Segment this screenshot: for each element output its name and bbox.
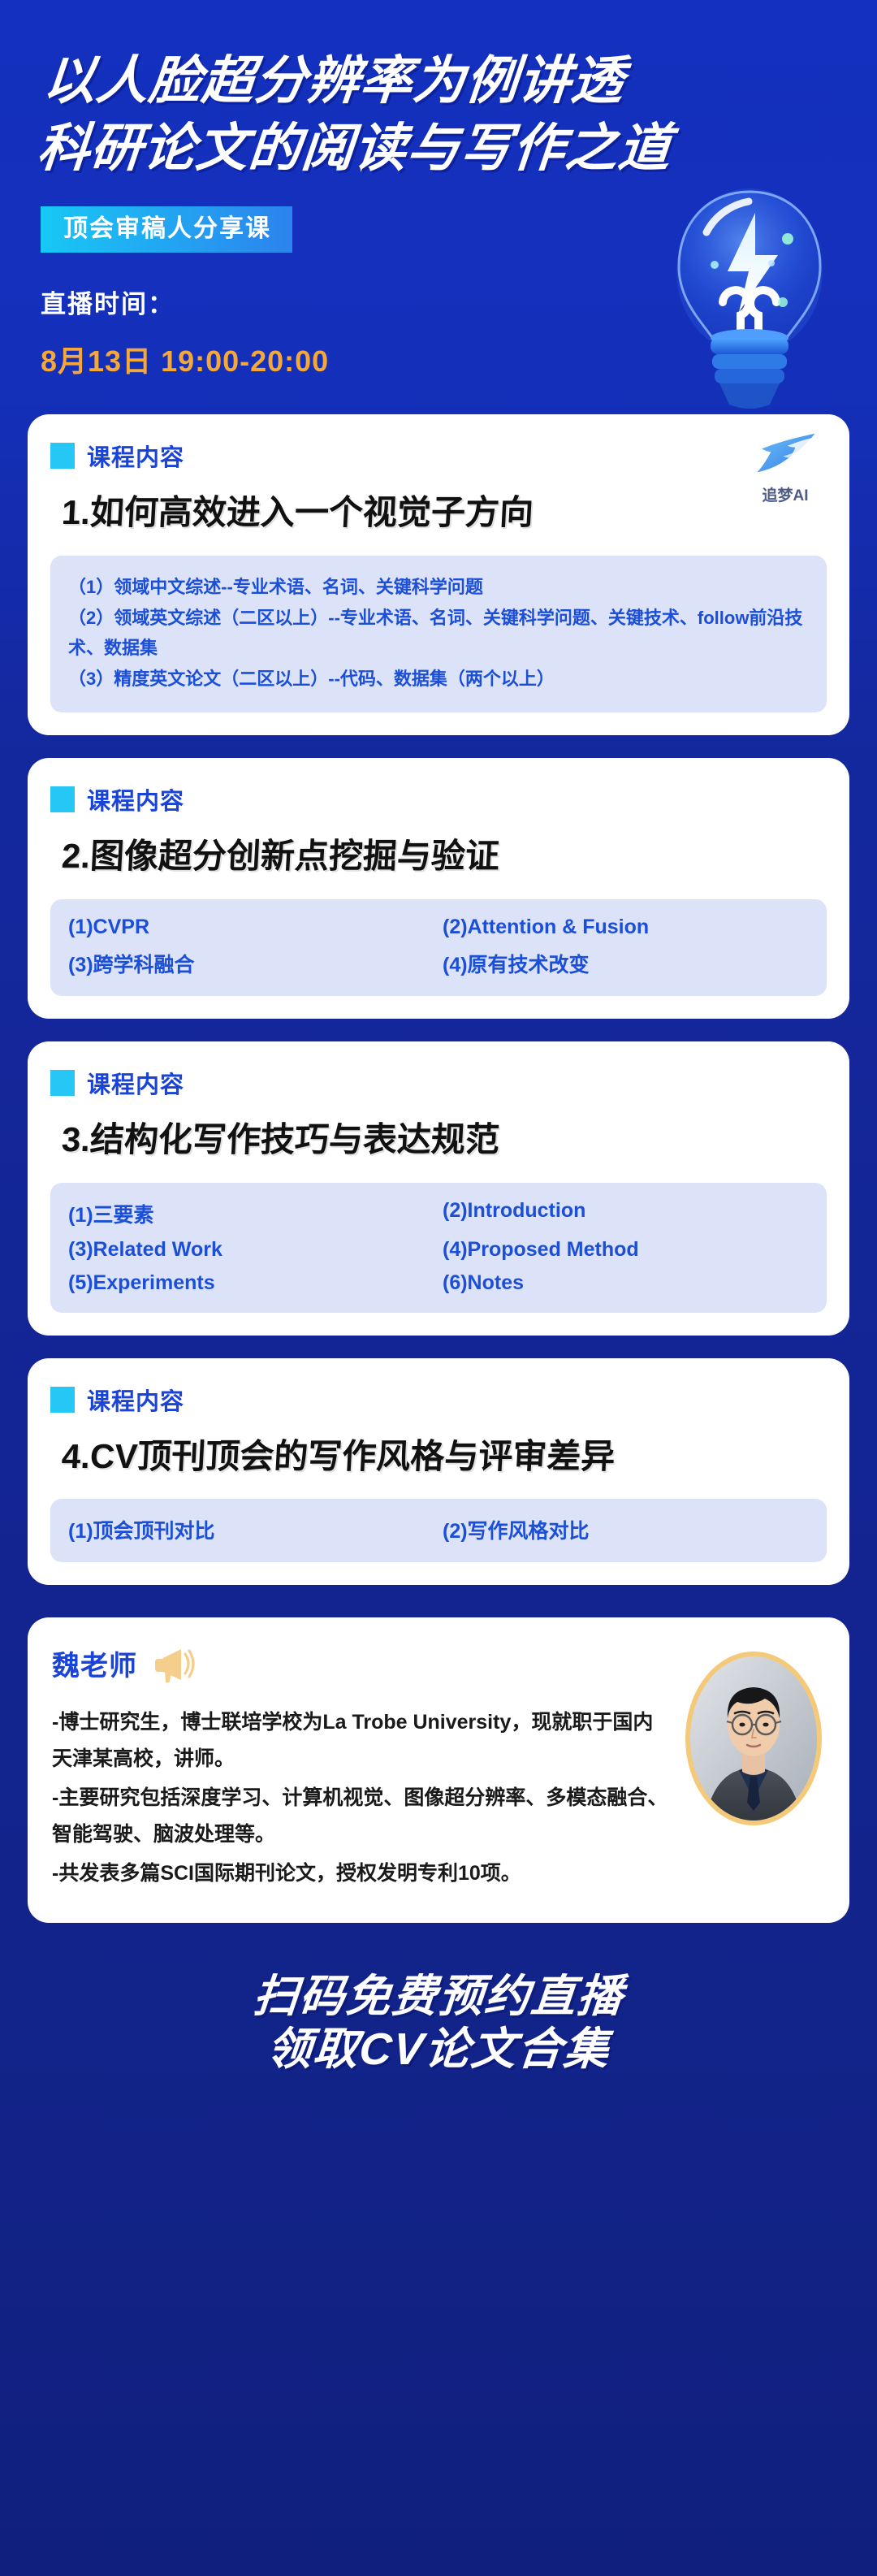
lightbulb-icon <box>664 180 835 424</box>
card-1-content-box: （1）领域中文综述--专业术语、名词、关键科学问题 （2）领域英文综述（二区以上… <box>50 556 827 712</box>
teacher-bio-line: -主要研究包括深度学习、计算机视觉、图像超分辨率、多模态融合、智能驾驶、脑波处理… <box>52 1780 669 1852</box>
kicker-square-icon <box>50 786 75 812</box>
kicker-square-icon <box>50 1387 75 1413</box>
card-4-items: (1)顶会顶刊对比 (2)写作风格对比 <box>68 1515 809 1544</box>
teacher-name: 魏老师 <box>52 1643 137 1683</box>
card-2-title: 2.图像超分创新点挖掘与验证 <box>61 834 828 878</box>
list-item: (3)跨学科融合 <box>68 949 434 978</box>
page-title: 以人脸超分辨率为例讲透 科研论文的阅读与写作之道 <box>35 47 843 182</box>
card-2-items: (1)CVPR (2)Attention & Fusion (3)跨学科融合 (… <box>68 916 809 978</box>
card-1-title: 1.如何高效进入一个视觉子方向 <box>61 491 828 535</box>
card-1-kicker-label: 课程内容 <box>87 439 184 473</box>
list-item: (2)Attention & Fusion <box>443 916 809 939</box>
card-1-kicker: 课程内容 <box>50 439 827 473</box>
list-item: （2）领域英文综述（二区以上）--专业术语、名词、关键科学问题、关键技术、fol… <box>68 603 809 665</box>
list-item: （3）精度英文论文（二区以上）--代码、数据集（两个以上） <box>68 664 809 695</box>
list-item: (6)Notes <box>443 1271 809 1295</box>
card-1-items: （1）领域中文综述--专业术语、名词、关键科学问题 （2）领域英文综述（二区以上… <box>68 572 809 695</box>
list-item: (4)Proposed Method <box>443 1238 809 1262</box>
course-card-3[interactable]: 课程内容 3.结构化写作技巧与表达规范 (1)三要素 (2)Introducti… <box>28 1041 849 1336</box>
teacher-bio: -博士研究生，博士联培学校为La Trobe University，现就职于国内… <box>52 1704 669 1892</box>
card-4-kicker-label: 课程内容 <box>87 1383 184 1417</box>
footer-cta: 扫码免费预约直播 领取CV论文合集 <box>0 1970 877 2123</box>
avatar <box>685 1652 822 1825</box>
kicker-square-icon <box>50 1070 75 1096</box>
page-title-line-2: 科研论文的阅读与写作之道 <box>35 115 836 182</box>
card-3-items: (1)三要素 (2)Introduction (3)Related Work (… <box>68 1199 809 1295</box>
card-3-kicker-label: 课程内容 <box>87 1066 184 1100</box>
card-3-content-box: (1)三要素 (2)Introduction (3)Related Work (… <box>50 1183 827 1313</box>
teacher-bio-line: -共发表多篇SCI国际期刊论文，授权发明专利10项。 <box>52 1855 669 1892</box>
list-item: (2)Introduction <box>443 1199 809 1228</box>
footer-line-2: 领取CV论文合集 <box>0 2023 877 2076</box>
course-card-4[interactable]: 课程内容 4.CV顶刊顶会的写作风格与评审差异 (1)顶会顶刊对比 (2)写作风… <box>28 1358 849 1586</box>
card-2-kicker: 课程内容 <box>50 782 827 816</box>
list-item: (2)写作风格对比 <box>443 1515 809 1544</box>
card-3-kicker: 课程内容 <box>50 1066 827 1100</box>
teacher-bio-line: -博士研究生，博士联培学校为La Trobe University，现就职于国内… <box>52 1704 669 1777</box>
footer-line-1: 扫码免费预约直播 <box>0 1970 877 2023</box>
page-title-line-1: 以人脸超分辨率为例讲透 <box>41 47 842 115</box>
wing-bird-logo-icon <box>749 431 822 482</box>
card-2-kicker-label: 课程内容 <box>87 782 184 816</box>
hero-header: 以人脸超分辨率为例讲透 科研论文的阅读与写作之道 顶会审稿人分享课 直播时间： … <box>0 0 877 414</box>
course-card-1[interactable]: 追梦AI 课程内容 1.如何高效进入一个视觉子方向 （1）领域中文综述--专业术… <box>28 414 849 735</box>
card-4-content-box: (1)顶会顶刊对比 (2)写作风格对比 <box>50 1499 827 1562</box>
course-type-badge: 顶会审稿人分享课 <box>41 206 292 253</box>
megaphone-icon <box>152 1644 197 1683</box>
card-4-title: 4.CV顶刊顶会的写作风格与评审差异 <box>61 1435 828 1478</box>
teacher-profile-card: 魏老师 -博士研究生，博士联培学校为La Trobe University，现就… <box>28 1617 849 1923</box>
card-3-title: 3.结构化写作技巧与表达规范 <box>61 1118 828 1162</box>
course-card-2[interactable]: 课程内容 2.图像超分创新点挖掘与验证 (1)CVPR (2)Attention… <box>28 758 849 1019</box>
list-item: (3)Related Work <box>68 1238 434 1262</box>
list-item: （1）领域中文综述--专业术语、名词、关键科学问题 <box>68 572 809 603</box>
course-cards-list: 追梦AI 课程内容 1.如何高效进入一个视觉子方向 （1）领域中文综述--专业术… <box>0 414 877 1585</box>
list-item: (5)Experiments <box>68 1271 434 1295</box>
list-item: (1)顶会顶刊对比 <box>68 1515 434 1544</box>
card-4-kicker: 课程内容 <box>50 1383 827 1417</box>
card-2-content-box: (1)CVPR (2)Attention & Fusion (3)跨学科融合 (… <box>50 899 827 996</box>
list-item: (4)原有技术改变 <box>443 949 809 978</box>
kicker-square-icon <box>50 443 75 469</box>
list-item: (1)三要素 <box>68 1199 434 1228</box>
list-item: (1)CVPR <box>68 916 434 939</box>
